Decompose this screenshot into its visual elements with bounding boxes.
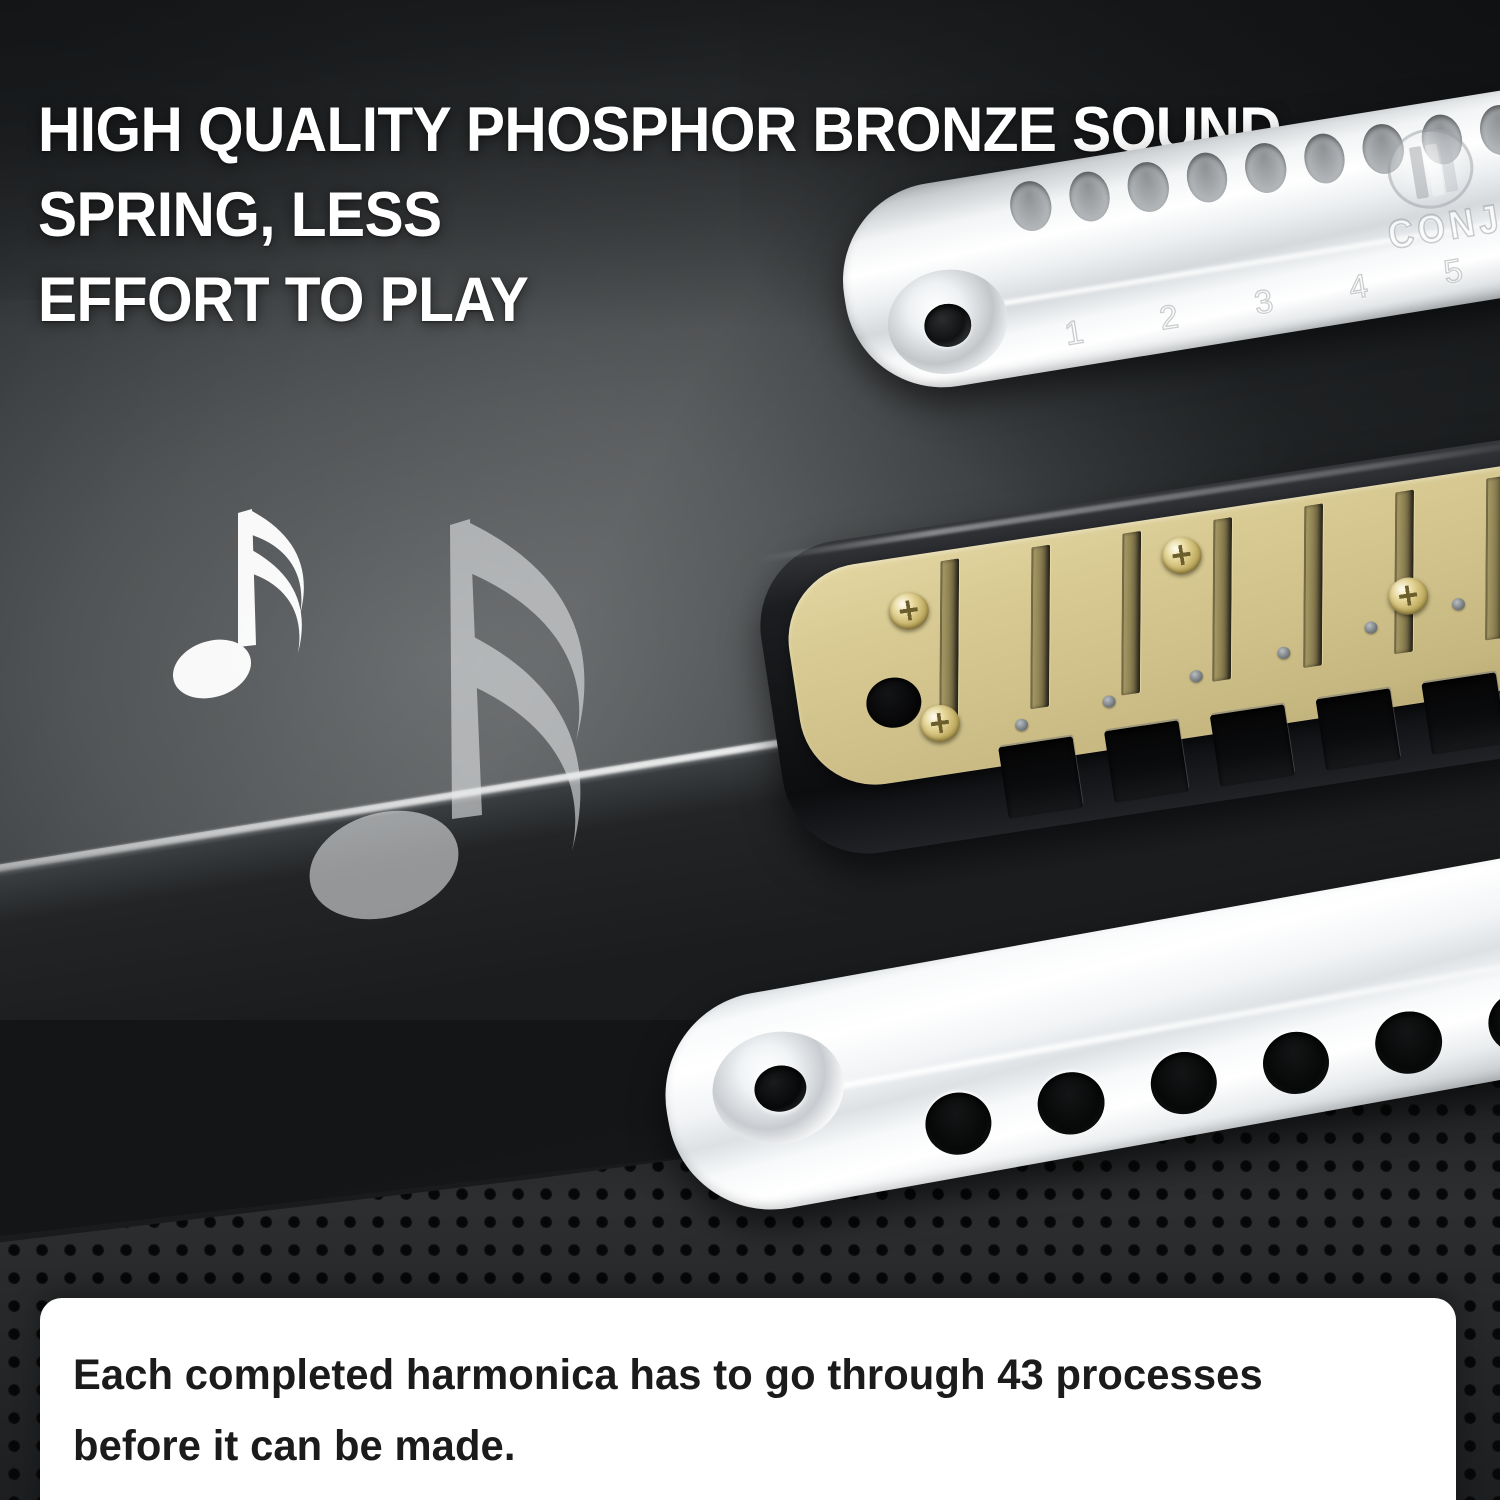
product-feature-image: HIGH QUALITY PHOSPHOR BRONZE SOUND SPRIN… <box>0 0 1500 1500</box>
sixteenth-note-icon <box>300 515 630 945</box>
caption-text: Each completed harmonica has to go throu… <box>73 1340 1391 1482</box>
reed-plate-vent-hole <box>863 674 925 732</box>
caption-card: Each completed harmonica has to go throu… <box>40 1298 1456 1500</box>
